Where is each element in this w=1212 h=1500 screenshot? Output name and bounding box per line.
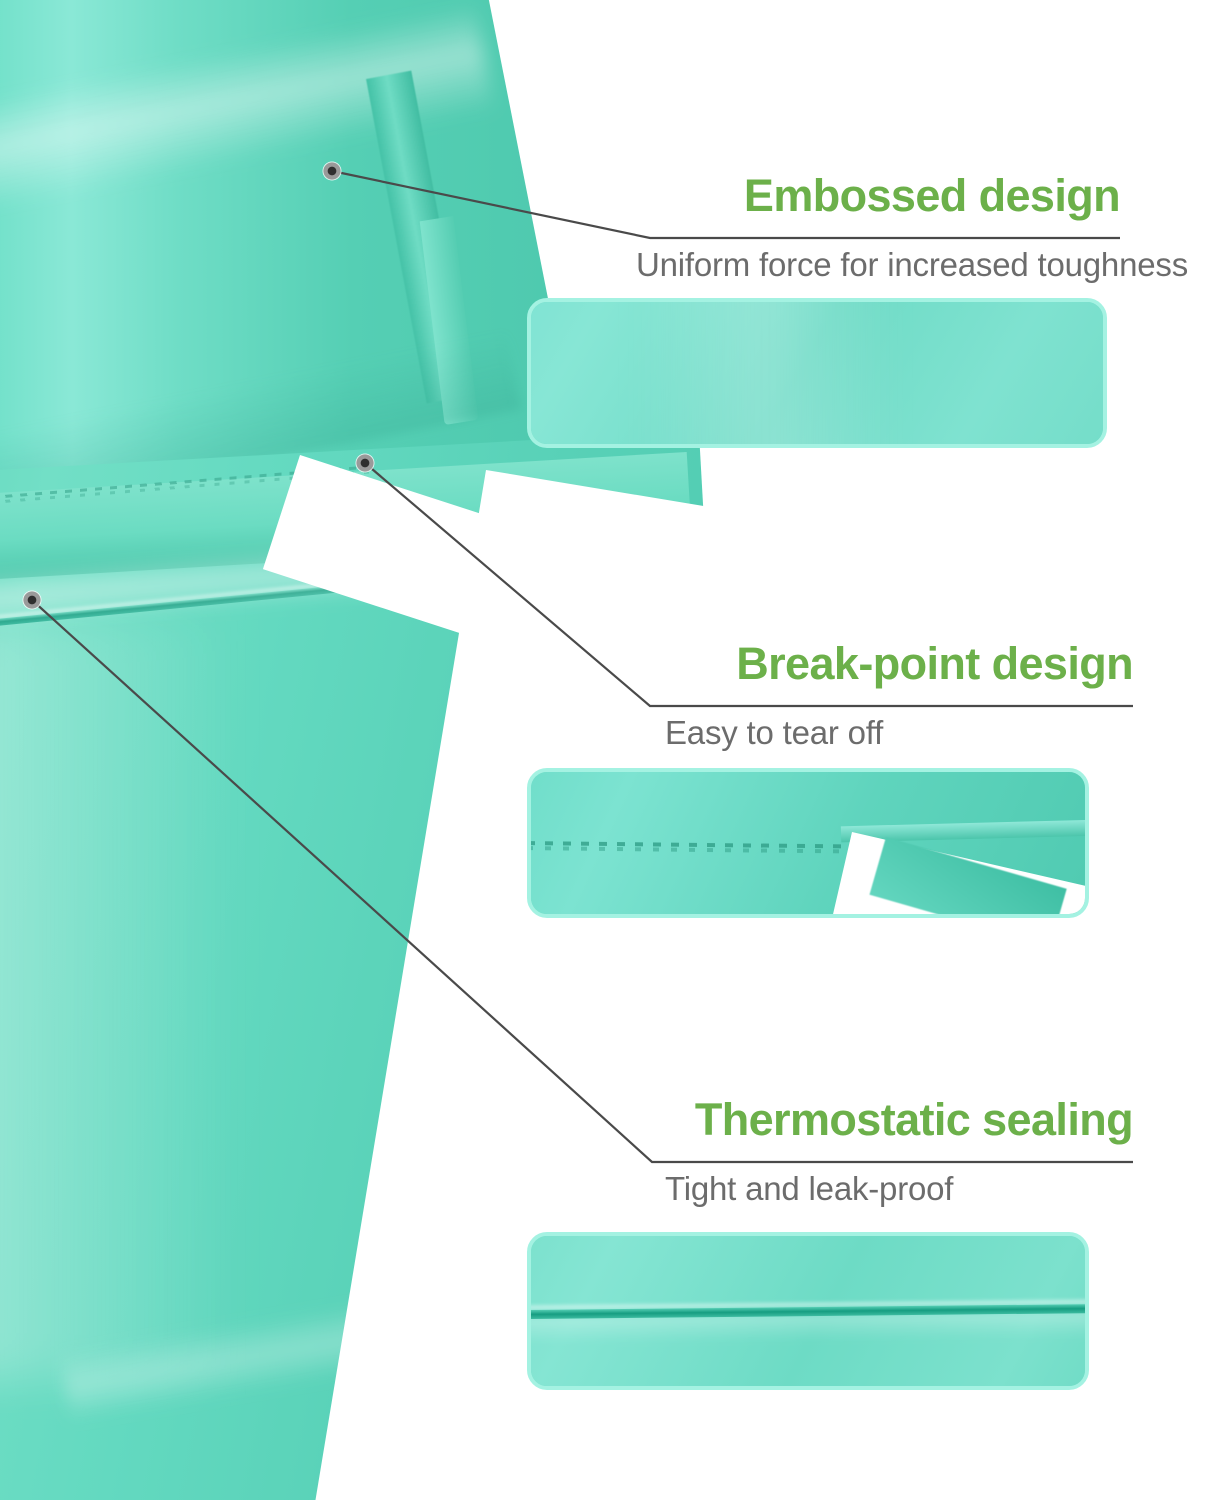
anchor-dot-thermostatic <box>23 591 42 610</box>
feature-subtitle-wrap-embossed: Uniform force for increased toughness <box>520 246 1188 284</box>
feature-title-thermostatic: Thermostatic sealing <box>520 1094 1133 1146</box>
feature-card-break-point[interactable] <box>527 768 1089 918</box>
anchor-dot-break-point <box>356 454 375 473</box>
feature-subtitle-embossed: Uniform force for increased toughness <box>520 246 1188 284</box>
feature-subtitle-wrap-thermostatic: Tight and leak-proof <box>520 1170 930 1208</box>
feature-subtitle-thermostatic: Tight and leak-proof <box>665 1170 930 1208</box>
feature-thermostatic-sealing: Thermostatic sealing <box>520 1094 1133 1146</box>
feature-subtitle-wrap-break-point: Easy to tear off <box>520 714 930 752</box>
embossed-film-photo <box>531 302 1103 444</box>
feature-title-embossed: Embossed design <box>520 170 1120 222</box>
feature-subtitle-break-point: Easy to tear off <box>665 714 930 752</box>
feature-card-embossed[interactable] <box>527 298 1107 448</box>
feature-title-break-point: Break-point design <box>520 638 1133 690</box>
feature-embossed-design: Embossed design <box>520 170 1120 222</box>
break-point-photo <box>531 772 1085 914</box>
heat-seal-photo <box>531 1236 1085 1386</box>
infographic-canvas: Embossed design Uniform force for increa… <box>0 0 1212 1500</box>
feature-card-thermostatic[interactable] <box>527 1232 1089 1390</box>
anchor-dot-embossed <box>323 162 342 181</box>
feature-break-point-design: Break-point design <box>520 638 1133 690</box>
bag-body-sheen <box>0 620 240 1380</box>
